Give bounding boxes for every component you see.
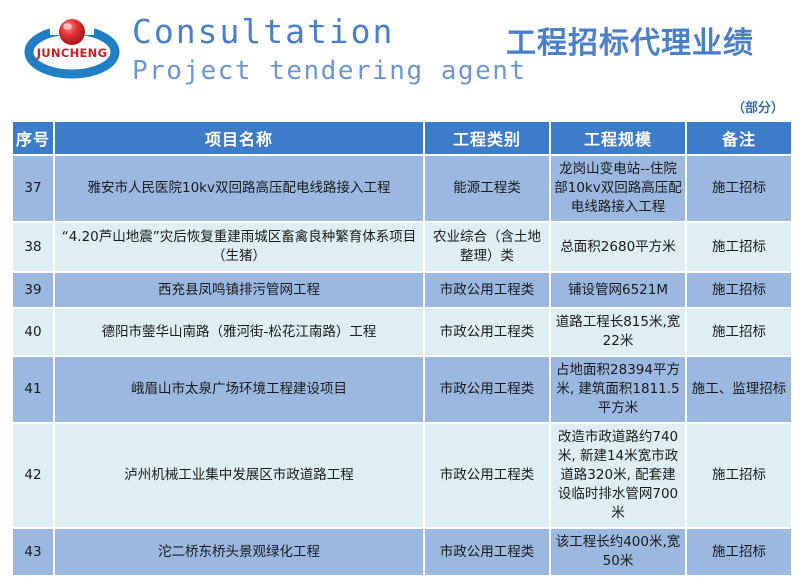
cell-remark: 施工招标 (687, 223, 791, 271)
column-header-no: 序号 (13, 122, 53, 154)
cell-remark: 施工招标 (687, 156, 791, 221)
table-body: 37 雅安市人民医院10kv双回路高压配电线路接入工程 能源工程类 龙岗山变电站… (13, 156, 791, 575)
performance-table: 序号 项目名称 工程类别 工程规模 备注 37 雅安市人民医院10kv双回路高压… (11, 120, 793, 577)
cell-scale: 道路工程长815米,宽22米 (551, 309, 685, 355)
cell-scale: 总面积2680平方米 (551, 223, 685, 271)
table-row: 42 泸州机械工业集中发展区市政道路工程 市政公用工程类 改造市政道路约740米… (13, 424, 791, 527)
cell-name: 西充县凤鸣镇排污管网工程 (55, 273, 423, 307)
cell-remark: 施工招标 (687, 309, 791, 355)
company-logo: JUNCHENG (18, 10, 126, 80)
page-title: 工程招标代理业绩 (506, 18, 754, 62)
table-row: 40 德阳市蓥华山南路（雅河街-松花江南路）工程 市政公用工程类 道路工程长81… (13, 309, 791, 355)
cell-no: 37 (13, 156, 53, 221)
cell-name: 雅安市人民医院10kv双回路高压配电线路接入工程 (55, 156, 423, 221)
cell-name: 峨眉山市太泉广场环境工程建设项目 (55, 357, 423, 422)
brand-title: Consultation (132, 12, 394, 52)
cell-no: 42 (13, 424, 53, 527)
cell-no: 43 (13, 529, 53, 575)
table-row: 43 沱二桥东桥头景观绿化工程 市政公用工程类 该工程长约400米,宽50米 施… (13, 529, 791, 575)
cell-name: 德阳市蓥华山南路（雅河街-松花江南路）工程 (55, 309, 423, 355)
table-row: 41 峨眉山市太泉广场环境工程建设项目 市政公用工程类 占地面积28394平方米… (13, 357, 791, 422)
cell-no: 39 (13, 273, 53, 307)
table-row: 39 西充县凤鸣镇排污管网工程 市政公用工程类 铺设管网6521M 施工招标 (13, 273, 791, 307)
brand-subtitle: Project tendering agent (132, 54, 527, 88)
cell-remark: 施工招标 (687, 529, 791, 575)
cell-no: 38 (13, 223, 53, 271)
cell-category: 市政公用工程类 (425, 357, 549, 422)
logo-wordmark: JUNCHENG (36, 46, 108, 60)
cell-category: 市政公用工程类 (425, 273, 549, 307)
column-header-name: 项目名称 (55, 122, 423, 154)
cell-category: 市政公用工程类 (425, 424, 549, 527)
table-header-row: 序号 项目名称 工程类别 工程规模 备注 (13, 122, 791, 154)
performance-table-container: 序号 项目名称 工程类别 工程规模 备注 37 雅安市人民医院10kv双回路高压… (11, 120, 785, 577)
page-header: JUNCHENG Consultation Project tendering … (0, 0, 800, 96)
table-row: 37 雅安市人民医院10kv双回路高压配电线路接入工程 能源工程类 龙岗山变电站… (13, 156, 791, 221)
cell-no: 40 (13, 309, 53, 355)
cell-scale: 占地面积28394平方米, 建筑面积1811.5平方米 (551, 357, 685, 422)
column-header-remark: 备注 (687, 122, 791, 154)
cell-scale: 该工程长约400米,宽50米 (551, 529, 685, 575)
cell-category: 能源工程类 (425, 156, 549, 221)
cell-scale: 龙岗山变电站--住院部10kv双回路高压配电线路接入工程 (551, 156, 685, 221)
cell-name: “4.20芦山地震”灾后恢复重建雨城区畜禽良种繁育体系项目（生猪） (55, 223, 423, 271)
partial-note: （部分） (732, 97, 784, 116)
cell-remark: 施工招标 (687, 273, 791, 307)
table-row: 38 “4.20芦山地震”灾后恢复重建雨城区畜禽良种繁育体系项目（生猪） 农业综… (13, 223, 791, 271)
cell-no: 41 (13, 357, 53, 422)
cell-category: 市政公用工程类 (425, 309, 549, 355)
cell-category: 市政公用工程类 (425, 529, 549, 575)
cell-remark: 施工招标 (687, 424, 791, 527)
cell-name: 泸州机械工业集中发展区市政道路工程 (55, 424, 423, 527)
cell-name: 沱二桥东桥头景观绿化工程 (55, 529, 423, 575)
cell-remark: 施工、监理招标 (687, 357, 791, 422)
column-header-scale: 工程规模 (551, 122, 685, 154)
cell-scale: 改造市政道路约740米, 新建14米宽市政道路320米, 配套建设临时排水管网7… (551, 424, 685, 527)
cell-scale: 铺设管网6521M (551, 273, 685, 307)
cell-category: 农业综合（含土地整理）类 (425, 223, 549, 271)
column-header-category: 工程类别 (425, 122, 549, 154)
